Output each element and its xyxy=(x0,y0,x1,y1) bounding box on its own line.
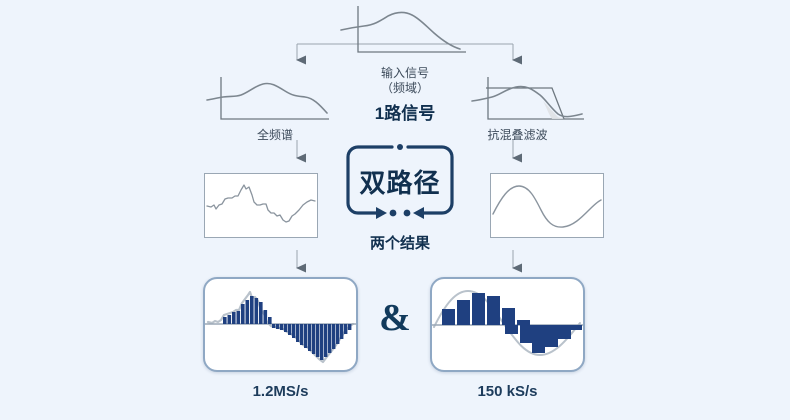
full-spectrum-label: 全频谱 xyxy=(215,128,335,143)
diagram-canvas: 输入信号 （频域） 1路信号 全频谱 抗混叠滤波 xyxy=(0,0,790,420)
dual-path-label: 双路径 xyxy=(336,163,464,200)
anti-alias-label: 抗混叠滤波 xyxy=(455,128,580,143)
result-card-fast xyxy=(203,277,358,372)
chart-input-signal xyxy=(338,4,472,60)
chart-time-domain-sine xyxy=(490,173,604,238)
chart-result-fast xyxy=(205,279,356,370)
chart-time-domain-noisy xyxy=(204,173,318,238)
chart-result-slow xyxy=(432,279,583,370)
rate-label-slow: 150 kS/s xyxy=(430,383,585,400)
rate-label-fast: 1.2MS/s xyxy=(203,383,358,400)
result-card-slow xyxy=(430,277,585,372)
chart-anti-alias xyxy=(448,75,588,127)
ampersand-separator: & xyxy=(372,299,418,337)
two-results-label: 两个结果 xyxy=(336,232,464,253)
chart-full-spectrum xyxy=(205,75,345,127)
